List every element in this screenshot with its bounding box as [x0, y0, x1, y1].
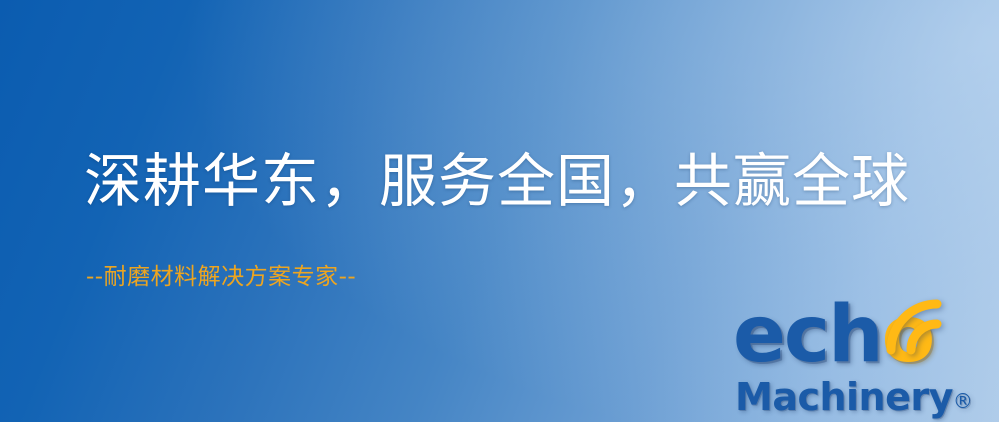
echo-machinery-logo[interactable]: echo Machinery®: [733, 292, 991, 420]
banner-headline: 深耕华东，服务全国，共赢全球: [84, 152, 910, 210]
registered-trademark-icon: ®: [953, 389, 973, 413]
hero-banner: 深耕华东，服务全国，共赢全球 --耐磨材料解决方案专家-- echo Machi…: [0, 0, 999, 422]
signal-waves-icon: [881, 292, 953, 354]
logo-wordmark-prefix: ech: [733, 290, 882, 380]
logo-tagline: Machinery®: [735, 378, 973, 416]
banner-subheadline: --耐磨材料解决方案专家--: [86, 266, 356, 289]
logo-tagline-text: Machinery: [735, 375, 953, 419]
